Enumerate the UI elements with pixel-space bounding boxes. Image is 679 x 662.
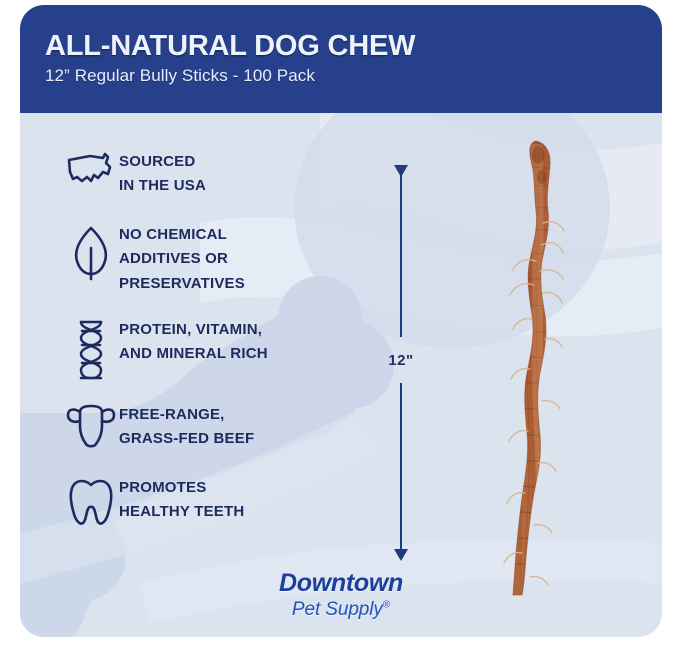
brand-logo: Downtown Pet Supply® [20, 571, 662, 619]
measurement-label: 12" [380, 352, 422, 369]
registered-trademark-icon: ® [383, 600, 390, 611]
list-item-label: NO CHEMICAL ADDITIVES OR PRESERVATIVES [119, 222, 245, 296]
page-subtitle: 12” Regular Bully Sticks - 100 Pack [45, 66, 662, 86]
feature-line: ADDITIVES OR [119, 247, 245, 271]
list-item: PROMOTES HEALTHY TEETH [63, 475, 333, 527]
page-title: ALL-NATURAL DOG CHEW [45, 31, 662, 61]
feature-list: SOURCED IN THE USA NO CHEMICAL ADDITIVES… [63, 149, 333, 548]
arrow-down-icon [394, 549, 408, 561]
feature-line: PRESERVATIVES [119, 272, 245, 296]
product-info-card: ALL-NATURAL DOG CHEW 12” Regular Bully S… [20, 5, 662, 637]
feature-line: AND MINERAL RICH [119, 342, 268, 366]
cow-head-icon [63, 402, 119, 450]
feature-line: IN THE USA [119, 174, 206, 198]
feature-line: FREE-RANGE, [119, 403, 254, 427]
feature-line: PROTEIN, VITAMIN, [119, 318, 268, 342]
feature-line: SOURCED [119, 150, 206, 174]
feature-line: NO CHEMICAL [119, 223, 245, 247]
leaf-icon [63, 222, 119, 282]
measurement-indicator: 12" [380, 165, 422, 565]
list-item-label: PROTEIN, VITAMIN, AND MINERAL RICH [119, 317, 268, 367]
list-item-label: PROMOTES HEALTHY TEETH [119, 475, 244, 525]
list-item: NO CHEMICAL ADDITIVES OR PRESERVATIVES [63, 222, 333, 296]
list-item-label: FREE-RANGE, GRASS-FED BEEF [119, 402, 254, 452]
feature-line: HEALTHY TEETH [119, 500, 244, 524]
list-item: FREE-RANGE, GRASS-FED BEEF [63, 402, 333, 454]
brand-name-secondary: Pet Supply® [20, 600, 662, 619]
bully-stick-photo [450, 133, 630, 603]
brand-name-secondary-text: Pet Supply [292, 599, 383, 620]
list-item: SOURCED IN THE USA [63, 149, 333, 201]
card-body: SOURCED IN THE USA NO CHEMICAL ADDITIVES… [20, 113, 662, 637]
card-header: ALL-NATURAL DOG CHEW 12” Regular Bully S… [20, 5, 662, 113]
dna-helix-icon [63, 317, 119, 381]
tooth-icon [63, 475, 119, 527]
list-item-label: SOURCED IN THE USA [119, 149, 206, 199]
list-item: PROTEIN, VITAMIN, AND MINERAL RICH [63, 317, 333, 381]
usa-map-icon [63, 149, 119, 189]
feature-line: GRASS-FED BEEF [119, 427, 254, 451]
brand-name-primary: Downtown [20, 571, 662, 596]
feature-line: PROMOTES [119, 476, 244, 500]
